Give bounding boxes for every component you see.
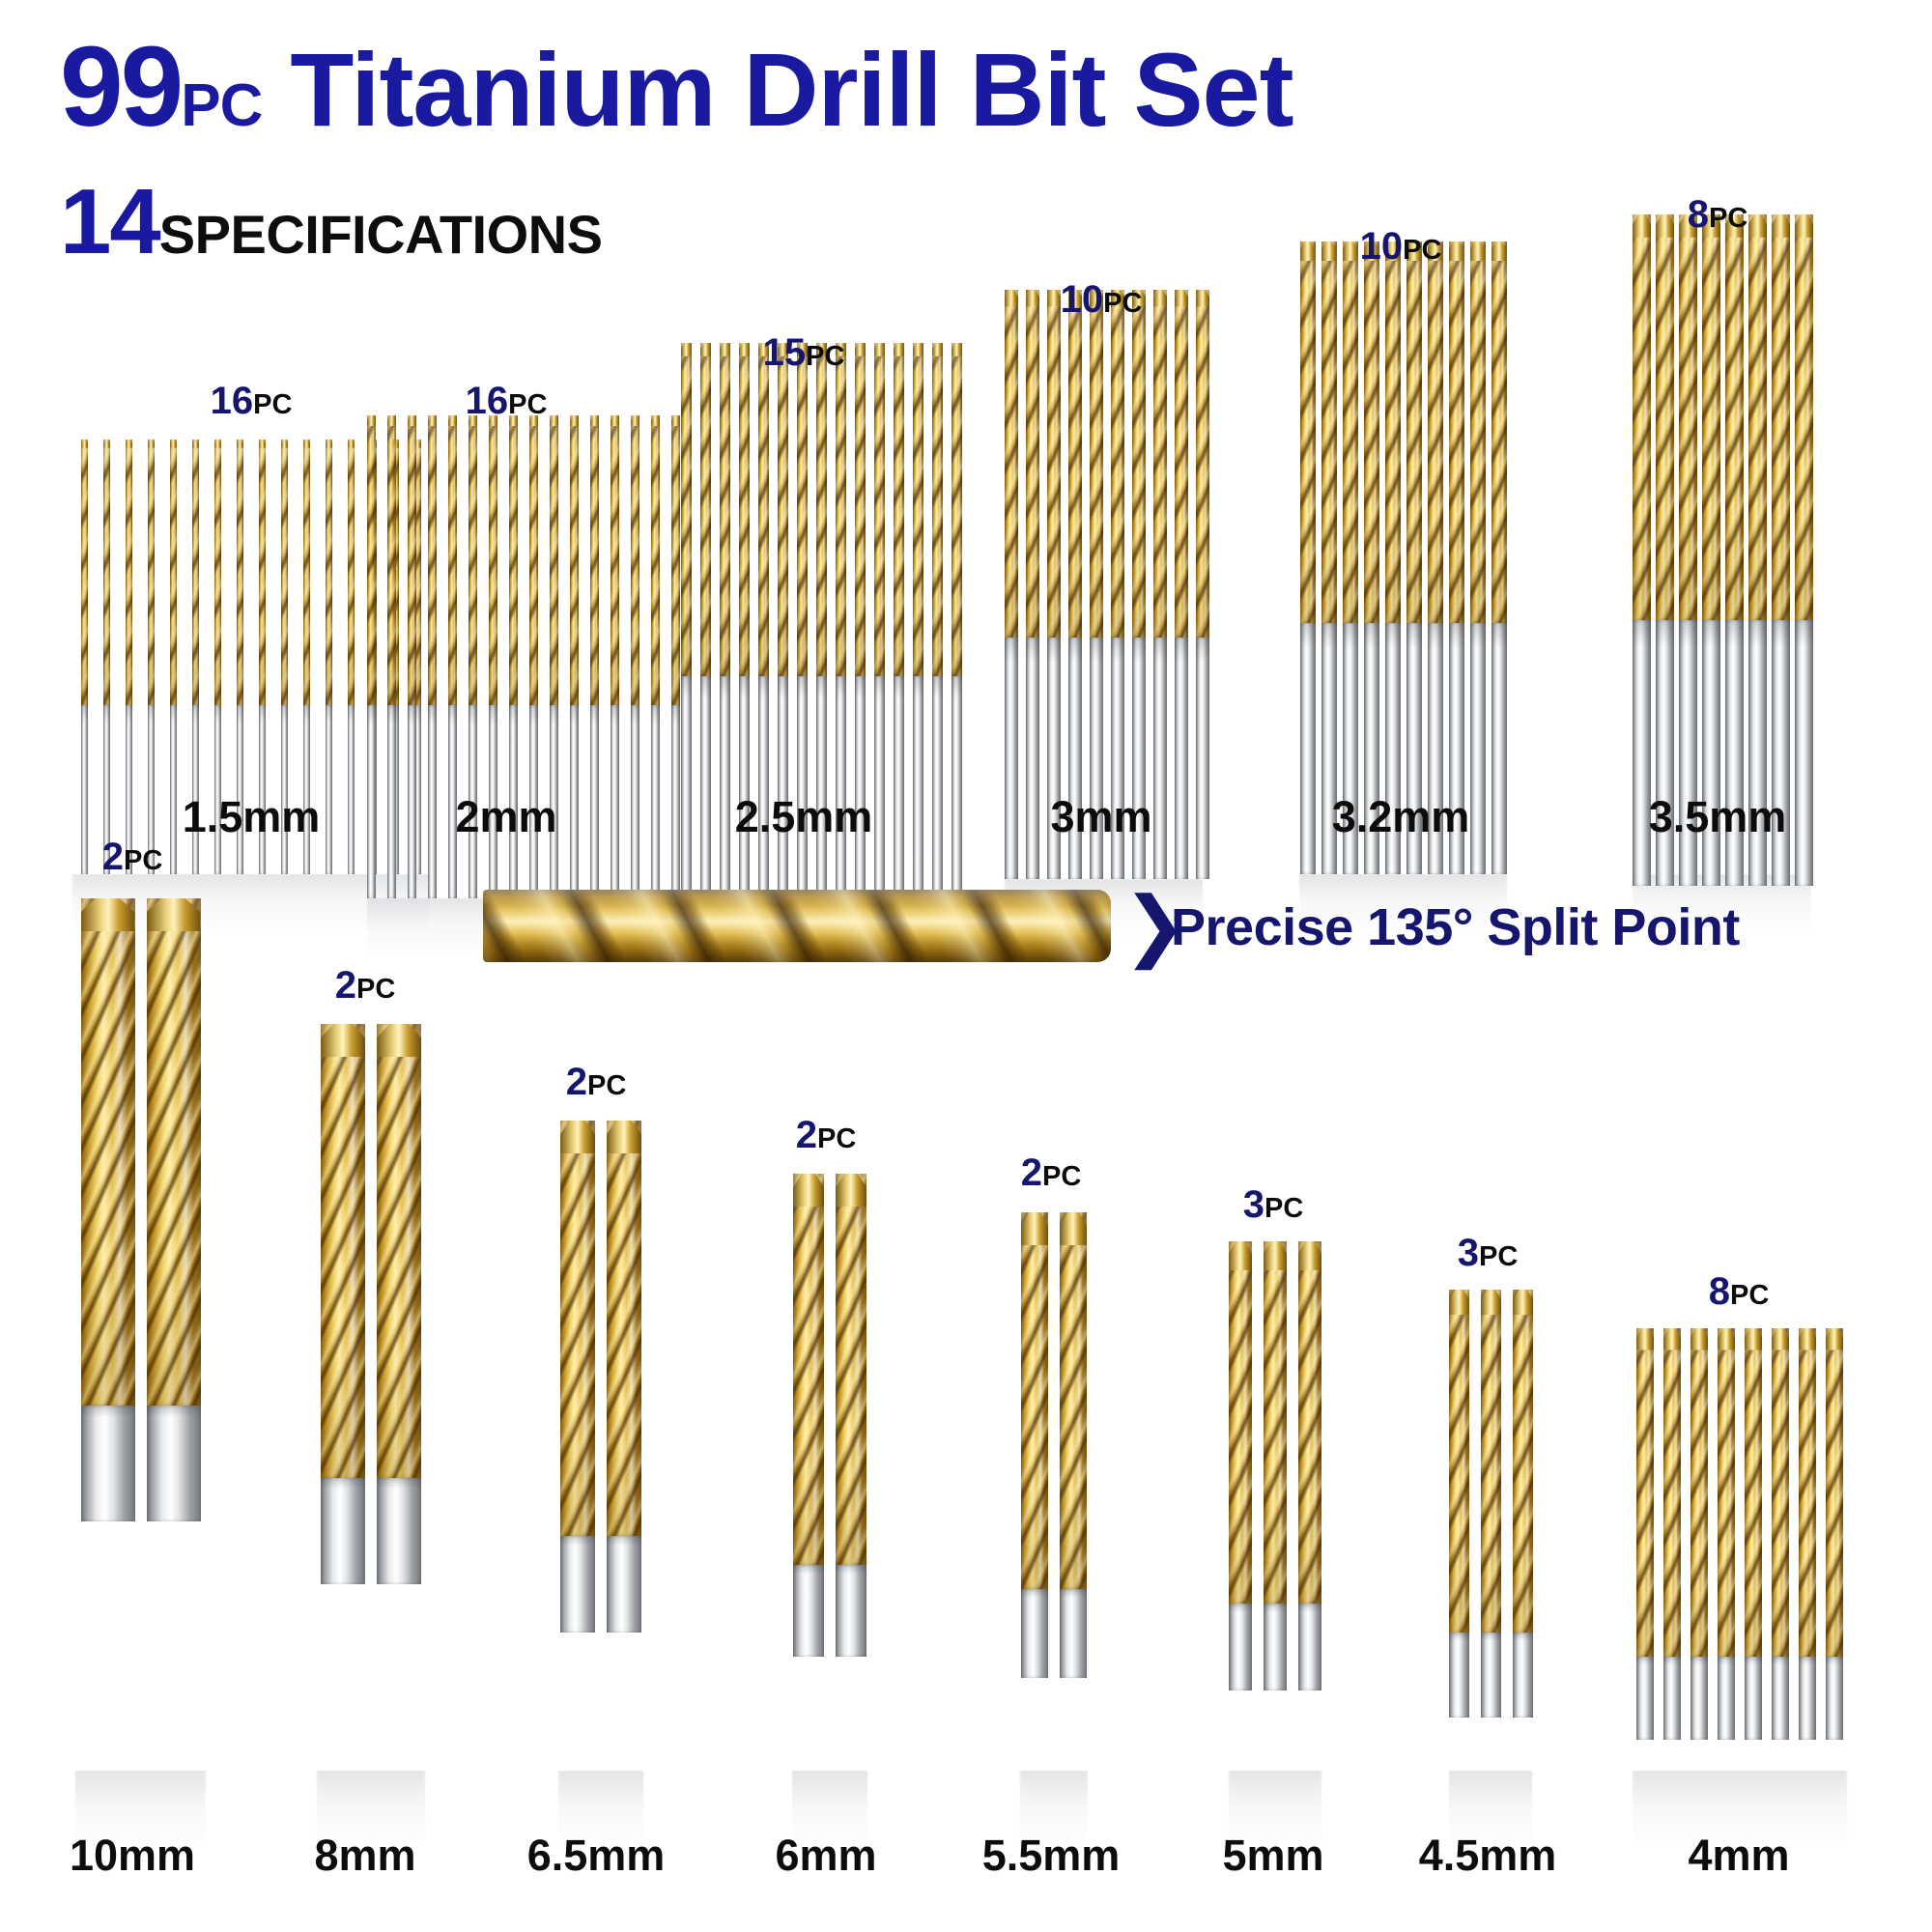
quantity-unit: PC xyxy=(1042,1161,1081,1192)
drill-bit xyxy=(932,343,943,898)
split-point-drill-bit-illustration xyxy=(483,890,1111,962)
spec-count: 14 xyxy=(60,170,159,273)
bit-flute xyxy=(126,440,132,705)
bit-flute xyxy=(1060,1212,1087,1589)
bit-flute xyxy=(377,1024,421,1478)
bit-shank xyxy=(952,676,962,898)
bit-flute xyxy=(1745,1328,1762,1657)
bit-shank xyxy=(1196,638,1209,879)
bit-flute xyxy=(148,440,155,705)
bit-flute xyxy=(560,1121,595,1536)
bit-flute xyxy=(793,1174,824,1565)
drill-bit xyxy=(1748,214,1767,886)
bottom-row-group-8mm[interactable] xyxy=(317,1024,425,1584)
bit-shank xyxy=(1633,620,1651,886)
quantity-unit: PC xyxy=(1403,235,1441,266)
bit-flute xyxy=(1047,290,1061,638)
bit-shank xyxy=(1513,1633,1533,1718)
bit-shank xyxy=(1725,620,1744,886)
bit-shank xyxy=(1060,1589,1087,1678)
bit-flute xyxy=(1772,214,1790,620)
bit-shank xyxy=(1047,638,1061,879)
drill-bit xyxy=(1428,241,1443,874)
title-product-name: Titanium Drill Bit Set xyxy=(262,31,1293,148)
bit-shank xyxy=(192,705,199,874)
bit-flute xyxy=(1364,241,1379,623)
quantity-unit: PC xyxy=(1264,1193,1303,1224)
quantity-unit: PC xyxy=(817,1123,856,1154)
drill-bit xyxy=(81,898,135,1521)
bit-shank xyxy=(560,1536,595,1633)
size-label-2mm: 2mm xyxy=(455,792,556,842)
bit-shank xyxy=(237,705,243,874)
bit-flute xyxy=(509,415,518,705)
drill-bit xyxy=(1175,290,1188,879)
bottom-row-group-5.5mm[interactable] xyxy=(1020,1212,1088,1678)
drill-bit xyxy=(1636,1328,1654,1740)
drill-bit xyxy=(1264,1241,1287,1690)
bit-flute xyxy=(259,440,266,705)
bit-flute xyxy=(631,415,639,705)
quantity-number: 2 xyxy=(1021,1151,1042,1194)
bit-flute xyxy=(607,1121,641,1536)
drill-bit xyxy=(1679,214,1697,886)
drill-bit xyxy=(321,1024,365,1584)
bit-flute xyxy=(1636,1328,1654,1657)
drill-bit xyxy=(700,343,711,898)
bit-flute xyxy=(1385,241,1401,623)
bit-shank xyxy=(1745,1657,1762,1740)
bottom-row-group-6.5mm[interactable] xyxy=(558,1121,643,1633)
bit-flute xyxy=(387,415,396,705)
bit-flute xyxy=(1449,1290,1469,1633)
bit-flute xyxy=(874,343,885,676)
bit-flute xyxy=(836,1174,867,1565)
drill-bit xyxy=(387,415,396,898)
quantity-label-8mm: 2PC xyxy=(335,964,396,1008)
drill-bit xyxy=(1111,290,1124,879)
quantity-number: 2 xyxy=(796,1114,817,1156)
bit-flute xyxy=(321,1024,365,1478)
bit-shank xyxy=(1799,1657,1816,1740)
drill-bit xyxy=(103,440,110,874)
drill-bit xyxy=(1060,1212,1087,1678)
bit-shank xyxy=(816,676,827,898)
bit-shank xyxy=(387,705,396,898)
quantity-number: 2 xyxy=(335,964,356,1007)
bit-flute xyxy=(1298,1241,1321,1604)
specifications-subtitle: 14SPECIFICATIONS xyxy=(60,169,602,275)
bit-shank xyxy=(797,676,808,898)
bit-shank xyxy=(1826,1657,1843,1740)
bit-shank xyxy=(793,1565,824,1657)
bit-shank xyxy=(1298,1604,1321,1690)
bit-flute xyxy=(1449,241,1464,623)
bit-flute xyxy=(720,343,730,676)
drill-bit xyxy=(1153,290,1167,879)
bit-shank xyxy=(1068,638,1082,879)
drill-bit xyxy=(1321,241,1337,874)
bit-shank xyxy=(348,705,355,874)
drill-bit xyxy=(1702,214,1720,886)
size-label-5mm: 5mm xyxy=(1222,1831,1323,1881)
bit-flute xyxy=(489,415,497,705)
bit-flute xyxy=(1175,290,1188,638)
bottom-row-group-10mm[interactable] xyxy=(75,898,206,1521)
bit-shank xyxy=(913,676,923,898)
quantity-unit: PC xyxy=(587,1070,626,1101)
top-row-group-3.2mm[interactable] xyxy=(1299,241,1507,874)
bit-shank xyxy=(1153,638,1167,879)
drill-bit xyxy=(1196,290,1209,879)
bit-flute xyxy=(192,440,199,705)
drill-bit xyxy=(1725,214,1744,886)
quantity-number: 3 xyxy=(1458,1232,1479,1274)
quantity-unit: PC xyxy=(356,974,395,1005)
quantity-number: 2 xyxy=(102,836,124,878)
quantity-label-4.5mm: 3PC xyxy=(1458,1232,1519,1275)
drill-bit xyxy=(836,1174,867,1657)
quantity-number: 10 xyxy=(1061,278,1104,321)
quantity-unit: PC xyxy=(1730,1280,1769,1311)
drill-bit xyxy=(681,343,692,898)
drill-bit xyxy=(428,415,437,898)
bit-flute xyxy=(932,343,943,676)
bit-flute xyxy=(1633,214,1651,620)
bit-flute xyxy=(1300,241,1316,623)
size-label-6.5mm: 6.5mm xyxy=(527,1831,666,1881)
bit-shank xyxy=(321,1478,365,1584)
bit-shank xyxy=(1636,1657,1654,1740)
bit-shank xyxy=(778,676,788,898)
quantity-label-5mm: 3PC xyxy=(1243,1183,1304,1227)
bit-shank xyxy=(1449,1633,1469,1718)
drill-bit xyxy=(1343,241,1358,874)
bottom-row-group-5mm[interactable] xyxy=(1229,1241,1321,1690)
quantity-unit: PC xyxy=(508,389,547,420)
bit-shank xyxy=(1132,638,1146,879)
bit-shank xyxy=(367,705,376,898)
bit-shank xyxy=(1772,620,1790,886)
bit-flute xyxy=(1679,214,1697,620)
bit-shank xyxy=(259,705,266,874)
bit-flute xyxy=(214,440,221,705)
quantity-number: 16 xyxy=(466,380,509,422)
drill-bit xyxy=(1047,290,1061,879)
drill-bit xyxy=(607,1121,641,1633)
bit-shank xyxy=(651,705,660,898)
drill-bit xyxy=(631,415,639,898)
size-label-10mm: 10mm xyxy=(70,1831,195,1881)
bit-flute xyxy=(570,415,579,705)
bit-shank xyxy=(81,705,88,874)
bit-flute xyxy=(1090,290,1103,638)
bit-flute xyxy=(1702,214,1720,620)
drill-bit xyxy=(894,343,904,898)
drill-bit xyxy=(570,415,579,898)
bit-flute xyxy=(671,415,680,705)
quantity-label-3.5mm: 8PC xyxy=(1688,193,1748,237)
bit-flute xyxy=(1690,1328,1708,1657)
quantity-label-6.5mm: 2PC xyxy=(566,1061,627,1104)
bit-shank xyxy=(720,676,730,898)
bit-shank xyxy=(607,1536,641,1633)
bit-flute xyxy=(1795,214,1813,620)
bit-flute xyxy=(1826,1328,1843,1657)
bit-shank xyxy=(1772,1657,1789,1740)
bit-flute xyxy=(1153,290,1167,638)
size-label-4mm: 4mm xyxy=(1688,1831,1789,1881)
bit-flute xyxy=(816,343,827,676)
bit-flute xyxy=(1663,1328,1681,1657)
split-point-callout: ❯ Precise 135° Split Point xyxy=(483,874,1932,985)
quantity-label-1.5mm: 16PC xyxy=(211,380,293,423)
bit-shank xyxy=(739,676,750,898)
bit-flute xyxy=(348,440,355,705)
size-label-5.5mm: 5.5mm xyxy=(982,1831,1121,1881)
bit-flute xyxy=(103,440,110,705)
bit-flute xyxy=(1481,1290,1501,1633)
bit-shank xyxy=(681,676,692,898)
bit-shank xyxy=(281,705,288,874)
bit-flute xyxy=(1748,214,1767,620)
size-label-3.2mm: 3.2mm xyxy=(1332,792,1470,842)
drill-bit xyxy=(913,343,923,898)
drill-bit xyxy=(148,440,155,874)
size-label-2.5mm: 2.5mm xyxy=(735,792,873,842)
bit-shank xyxy=(894,676,904,898)
drill-bit xyxy=(1492,241,1507,874)
quantity-unit: PC xyxy=(253,389,292,420)
drill-bit xyxy=(377,1024,421,1584)
bit-shank xyxy=(1021,1589,1048,1678)
bit-flute xyxy=(681,343,692,676)
bit-flute xyxy=(651,415,660,705)
drill-bit xyxy=(1132,290,1146,879)
bit-shank xyxy=(874,676,885,898)
bit-flute xyxy=(1229,1241,1252,1604)
bit-flute xyxy=(550,415,558,705)
bit-shank xyxy=(836,1565,867,1657)
quantity-number: 10 xyxy=(1360,225,1404,268)
quantity-unit: PC xyxy=(1103,288,1142,319)
bit-flute xyxy=(1196,290,1209,638)
bit-flute xyxy=(1321,241,1337,623)
drill-bit xyxy=(952,343,962,898)
bit-shank xyxy=(1492,623,1507,874)
bottom-row-group-4mm[interactable] xyxy=(1633,1328,1847,1740)
bit-shank xyxy=(855,676,866,898)
drill-bit xyxy=(81,440,88,874)
bit-flute xyxy=(758,343,769,676)
quantity-number: 15 xyxy=(763,331,807,374)
split-point-caption: Precise 135° Split Point xyxy=(1171,897,1740,957)
bit-flute xyxy=(428,415,437,705)
drill-bit xyxy=(1470,241,1486,874)
quantity-unit: PC xyxy=(124,845,162,876)
drill-bit xyxy=(1005,290,1018,879)
drill-bit xyxy=(560,1121,595,1633)
bit-shank xyxy=(1679,620,1697,886)
bit-flute xyxy=(590,415,599,705)
drill-bit xyxy=(348,440,355,874)
bit-flute xyxy=(797,343,808,676)
bit-shank xyxy=(1175,638,1188,879)
title-piece-count: 99 xyxy=(60,23,181,151)
bit-flute xyxy=(367,415,376,705)
size-label-3.5mm: 3.5mm xyxy=(1649,792,1787,842)
bit-shank xyxy=(147,1406,201,1521)
bit-shank xyxy=(1690,1657,1708,1740)
drill-bit xyxy=(1481,1290,1501,1718)
bit-flute xyxy=(952,343,962,676)
drill-bit xyxy=(1364,241,1379,874)
bit-flute xyxy=(1132,290,1146,638)
bit-shank xyxy=(1481,1633,1501,1718)
quantity-number: 3 xyxy=(1243,1183,1264,1226)
quantity-label-5.5mm: 2PC xyxy=(1021,1151,1082,1195)
drill-bit xyxy=(671,415,680,898)
bit-flute xyxy=(170,440,177,705)
bit-flute xyxy=(1264,1241,1287,1604)
drill-bit xyxy=(1300,241,1316,874)
drill-bit xyxy=(1229,1241,1252,1690)
drill-bit xyxy=(1090,290,1103,879)
quantity-unit: PC xyxy=(1709,203,1747,234)
drill-bit xyxy=(1656,214,1674,886)
drill-bit xyxy=(1449,241,1464,874)
bit-flute xyxy=(281,440,288,705)
drill-bit xyxy=(1513,1290,1533,1718)
quantity-number: 16 xyxy=(211,380,254,422)
bit-shank xyxy=(326,705,332,874)
drill-bit xyxy=(147,898,201,1521)
bit-shank xyxy=(428,705,437,898)
quantity-label-2mm: 16PC xyxy=(466,380,548,423)
bit-shank xyxy=(590,705,599,898)
drill-bit xyxy=(1772,214,1790,886)
quantity-unit: PC xyxy=(806,341,844,372)
bit-shank xyxy=(836,676,846,898)
drill-bit xyxy=(1021,1212,1048,1678)
bit-flute xyxy=(81,440,88,705)
bit-shank xyxy=(570,705,579,898)
drill-bit xyxy=(1026,290,1039,879)
top-row-group-3.5mm[interactable] xyxy=(1633,214,1811,886)
bit-flute xyxy=(855,343,866,676)
size-label-1.5mm: 1.5mm xyxy=(183,792,321,842)
bit-shank xyxy=(1663,1657,1681,1740)
bit-flute xyxy=(1718,1328,1735,1657)
bit-shank xyxy=(377,1478,421,1584)
drill-bit xyxy=(590,415,599,898)
bit-flute xyxy=(1725,214,1744,620)
bit-flute xyxy=(1492,241,1507,623)
bit-shank xyxy=(81,1406,135,1521)
drill-bit xyxy=(720,343,730,898)
bit-flute xyxy=(408,415,416,705)
bit-shank xyxy=(932,676,943,898)
quantity-label-10mm: 2PC xyxy=(102,836,163,879)
bit-flute xyxy=(739,343,750,676)
bit-flute xyxy=(303,440,310,705)
bit-shank xyxy=(1005,638,1018,879)
bit-shank xyxy=(303,705,310,874)
drill-bit xyxy=(1385,241,1401,874)
bit-shank xyxy=(1229,1604,1252,1690)
bit-flute xyxy=(1656,214,1674,620)
bit-shank xyxy=(170,705,177,874)
drill-bit xyxy=(367,415,376,898)
bit-shank xyxy=(1718,1657,1735,1740)
drill-bit xyxy=(651,415,660,898)
bit-flute xyxy=(778,343,788,676)
bit-flute xyxy=(448,415,457,705)
drill-bit xyxy=(1068,290,1082,879)
drill-bit xyxy=(170,440,177,874)
bit-flute xyxy=(1021,1212,1048,1589)
bit-shank xyxy=(1090,638,1103,879)
drill-bit xyxy=(1745,1328,1762,1740)
drill-bit xyxy=(1826,1328,1843,1740)
bit-flute xyxy=(700,343,711,676)
bit-flute xyxy=(894,343,904,676)
bit-flute xyxy=(147,898,201,1406)
top-row-group-3mm[interactable] xyxy=(1005,290,1203,879)
bottom-row-group-4.5mm[interactable] xyxy=(1449,1290,1532,1718)
drill-bit xyxy=(1772,1328,1789,1740)
bit-flute xyxy=(1005,290,1018,638)
quantity-number: 8 xyxy=(1709,1270,1730,1313)
quantity-number: 2 xyxy=(566,1061,587,1103)
title-piece-unit: PC xyxy=(181,72,262,139)
bit-shank xyxy=(1264,1604,1287,1690)
quantity-number: 8 xyxy=(1688,193,1709,236)
bit-shank xyxy=(700,676,711,898)
quantity-label-3.2mm: 10PC xyxy=(1360,225,1442,269)
bottom-row-group-6mm[interactable] xyxy=(792,1174,867,1657)
drill-bit xyxy=(1718,1328,1735,1740)
bit-shank xyxy=(1795,620,1813,886)
quantity-label-6mm: 2PC xyxy=(796,1114,857,1157)
bit-shank xyxy=(758,676,769,898)
bit-flute xyxy=(1799,1328,1816,1657)
drill-bit xyxy=(1799,1328,1816,1740)
bit-flute xyxy=(1111,290,1124,638)
size-label-3mm: 3mm xyxy=(1050,792,1151,842)
bit-flute xyxy=(1428,241,1443,623)
bit-shank xyxy=(1748,620,1767,886)
bit-flute xyxy=(469,415,477,705)
bit-shank xyxy=(671,705,680,898)
bit-flute xyxy=(1470,241,1486,623)
bit-flute xyxy=(1026,290,1039,638)
bit-shank xyxy=(631,705,639,898)
drill-bit xyxy=(1663,1328,1681,1740)
drill-bit xyxy=(1298,1241,1321,1690)
bit-shank xyxy=(1026,638,1039,879)
drill-bit xyxy=(1690,1328,1708,1740)
drill-bit xyxy=(408,415,416,898)
bit-shank xyxy=(1111,638,1124,879)
spec-word: SPECIFICATIONS xyxy=(159,204,603,265)
bit-shank xyxy=(408,705,416,898)
drill-bit xyxy=(126,440,132,874)
bit-flute xyxy=(913,343,923,676)
bit-flute xyxy=(1068,290,1082,638)
drill-bit xyxy=(793,1174,824,1657)
drill-bit xyxy=(874,343,885,898)
